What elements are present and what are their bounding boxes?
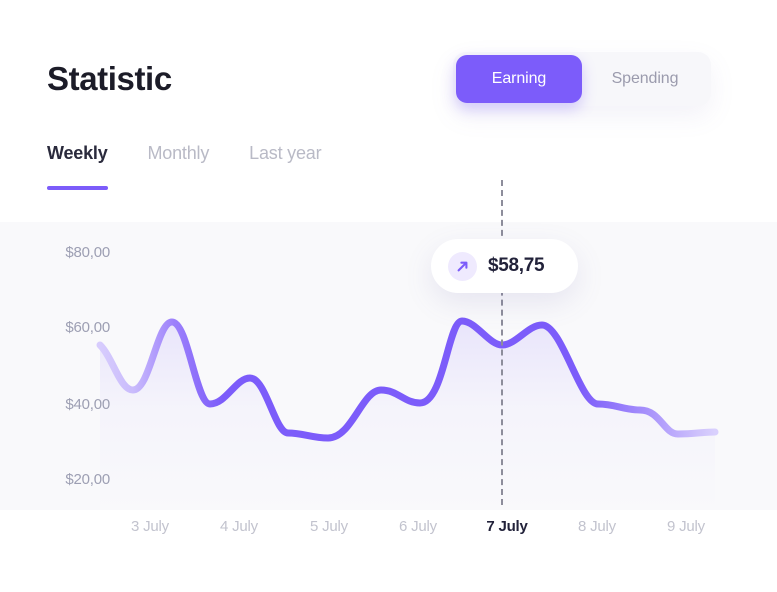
y-axis-label-40: $40,00 xyxy=(40,396,110,413)
y-axis-label-60: $60,00 xyxy=(40,319,110,336)
tab-monthly[interactable]: Monthly xyxy=(148,143,210,190)
page-title: Statistic xyxy=(47,62,172,95)
x-axis-label-7-july: 7 July xyxy=(462,518,552,535)
value-tooltip: $58,75 xyxy=(431,239,578,293)
chart-plot-area xyxy=(0,222,777,510)
x-axis-label-6-july: 6 July xyxy=(373,518,463,535)
earning-line-chart xyxy=(0,222,777,510)
toggle-option-spending[interactable]: Spending xyxy=(582,55,708,103)
toggle-option-earning[interactable]: Earning xyxy=(456,55,582,103)
statistic-card: Statistic Earning Spending Weekly Monthl… xyxy=(0,0,777,592)
tooltip-value: $58,75 xyxy=(488,255,544,277)
x-axis-label-5-july: 5 July xyxy=(284,518,374,535)
tab-last-year[interactable]: Last year xyxy=(249,143,321,190)
y-axis-label-20: $20,00 xyxy=(40,471,110,488)
x-axis-label-8-july: 8 July xyxy=(552,518,642,535)
x-axis: 3 July 4 July 5 July 6 July 7 July 8 Jul… xyxy=(0,518,777,542)
tab-weekly[interactable]: Weekly xyxy=(47,143,108,190)
x-axis-label-3-july: 3 July xyxy=(105,518,195,535)
cursor-dashed-line xyxy=(501,180,503,505)
trend-up-icon xyxy=(448,252,477,281)
x-axis-label-4-july: 4 July xyxy=(194,518,284,535)
period-tab-bar[interactable]: Weekly Monthly Last year xyxy=(47,143,321,190)
y-axis-label-80: $80,00 xyxy=(40,244,110,261)
chart-area-fill xyxy=(100,321,715,510)
x-axis-label-9-july: 9 July xyxy=(641,518,731,535)
earning-spending-toggle[interactable]: Earning Spending xyxy=(453,52,711,106)
